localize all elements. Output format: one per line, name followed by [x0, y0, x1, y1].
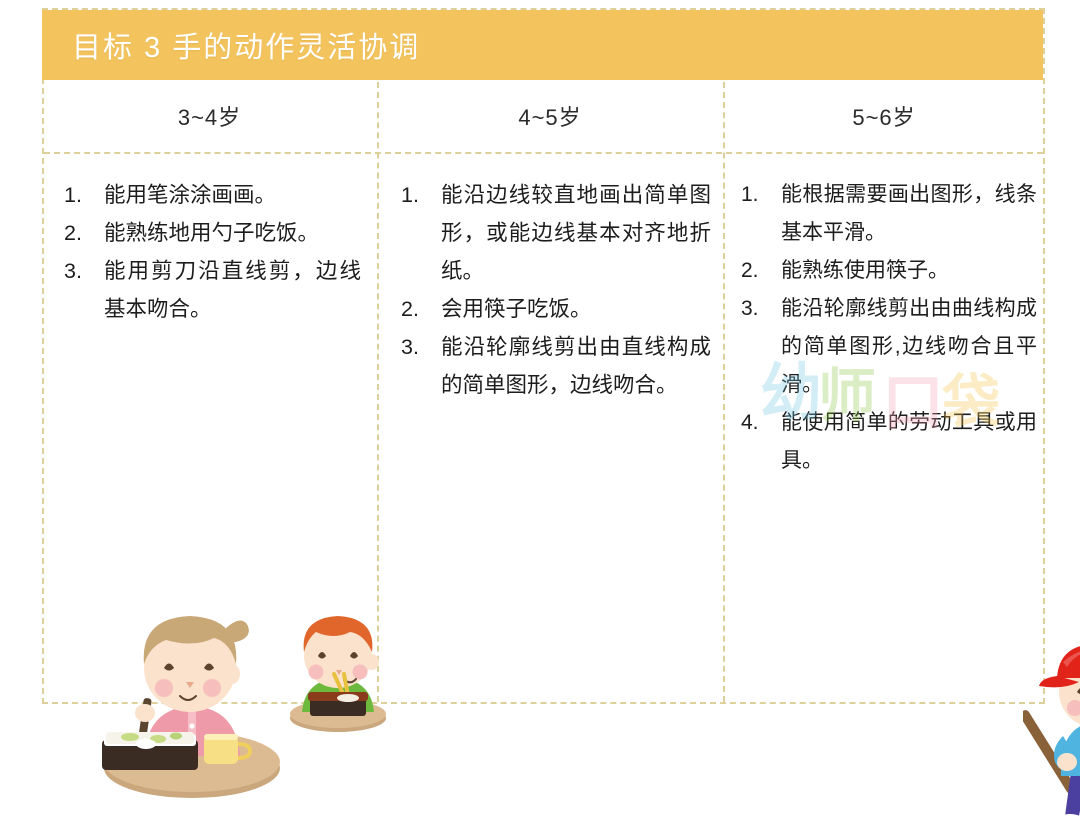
girl-eating-illustration: [100, 606, 290, 811]
list-item-number: 3.: [741, 290, 781, 404]
list-item: 2. 能熟练地用勺子吃饭。: [64, 214, 361, 252]
list-item-number: 1.: [64, 176, 104, 214]
list-item: 3. 能沿轮廓线剪出由直线构成的简单图形，边线吻合。: [401, 328, 711, 404]
goal-header-band: 目标 3 手的动作灵活协调: [42, 10, 1043, 80]
list-item-number: 2.: [741, 252, 781, 290]
age-header-5-6: 5~6岁: [723, 80, 1045, 152]
indicator-list-5-6: 1. 能根据需要画出图形，线条基本平滑。 2. 能熟练使用筷子。 3. 能沿轮廓…: [723, 154, 1045, 480]
list-item: 4. 能使用简单的劳动工具或用具。: [741, 404, 1037, 480]
age-header-label: 4~5岁: [518, 100, 581, 132]
age-header-4-5: 4~5岁: [377, 80, 723, 152]
list-item: 3. 能用剪刀沿直线剪，边线基本吻合。: [64, 252, 361, 328]
list-item-text: 能使用简单的劳动工具或用具。: [781, 404, 1037, 480]
list-item-text: 能沿轮廓线剪出由曲线构成的简单图形,边线吻合且平滑。: [781, 290, 1037, 404]
list-item: 1. 能根据需要画出图形，线条基本平滑。: [741, 176, 1037, 252]
age-header-row: 3~4岁 4~5岁 5~6岁: [42, 80, 1045, 152]
list-item: 2. 能熟练使用筷子。: [741, 252, 1037, 290]
list-item: 2. 会用筷子吃饭。: [401, 290, 711, 328]
age-header-3-4: 3~4岁: [42, 80, 377, 152]
column-3-4-years: 1. 能用笔涂涂画画。 2. 能熟练地用勺子吃饭。 3. 能用剪刀沿直线剪，边线…: [42, 154, 377, 702]
list-item-text: 能熟练使用筷子。: [781, 252, 1037, 290]
list-item: 3. 能沿轮廓线剪出由曲线构成的简单图形,边线吻合且平滑。: [741, 290, 1037, 404]
list-item-number: 3.: [64, 252, 104, 328]
list-item-text: 会用筷子吃饭。: [441, 290, 711, 328]
indicator-list-4-5: 1. 能沿边线较直地画出简单图形，或能边线基本对齐地折纸。 2. 会用筷子吃饭。…: [377, 154, 723, 404]
list-item-text: 能沿边线较直地画出简单图形，或能边线基本对齐地折纸。: [441, 176, 711, 290]
list-item-text: 能用笔涂涂画画。: [104, 176, 361, 214]
page-root: 目标 3 手的动作灵活协调 3~4岁 4~5岁 5~6岁 1. 能用笔涂涂画画。…: [0, 0, 1080, 716]
list-item-number: 2.: [64, 214, 104, 252]
indicator-list-3-4: 1. 能用笔涂涂画画。 2. 能熟练地用勺子吃饭。 3. 能用剪刀沿直线剪，边线…: [42, 154, 377, 328]
list-item-text: 能熟练地用勺子吃饭。: [104, 214, 361, 252]
list-item-text: 能沿轮廓线剪出由直线构成的简单图形，边线吻合。: [441, 328, 711, 404]
list-item-number: 3.: [401, 328, 441, 404]
list-item: 1. 能沿边线较直地画出简单图形，或能边线基本对齐地折纸。: [401, 176, 711, 290]
list-item-number: 1.: [741, 176, 781, 252]
list-item-text: 能根据需要画出图形，线条基本平滑。: [781, 176, 1037, 252]
page-title: 目标 3 手的动作灵活协调: [72, 24, 420, 66]
list-item-number: 1.: [401, 176, 441, 290]
list-item-text: 能用剪刀沿直线剪，边线基本吻合。: [104, 252, 361, 328]
column-5-6-years: 1. 能根据需要画出图形，线条基本平滑。 2. 能熟练使用筷子。 3. 能沿轮廓…: [723, 154, 1045, 702]
list-item-number: 2.: [401, 290, 441, 328]
goal-body-row: 1. 能用笔涂涂画画。 2. 能熟练地用勺子吃饭。 3. 能用剪刀沿直线剪，边线…: [42, 154, 1045, 702]
age-header-label: 5~6岁: [852, 100, 915, 132]
column-4-5-years: 1. 能沿边线较直地画出简单图形，或能边线基本对齐地折纸。 2. 会用筷子吃饭。…: [377, 154, 723, 702]
list-item: 1. 能用笔涂涂画画。: [64, 176, 361, 214]
list-item-number: 4.: [741, 404, 781, 480]
age-header-label: 3~4岁: [178, 100, 241, 132]
